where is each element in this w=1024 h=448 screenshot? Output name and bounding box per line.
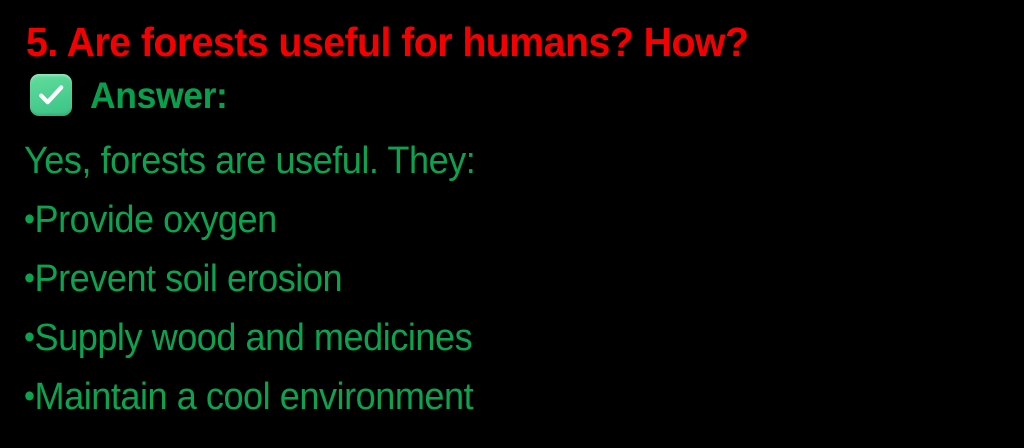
benefit-bullet-list: •Provide oxygen •Prevent soil erosion •S… (24, 190, 984, 426)
answer-slide: 5. Are forests useful for humans? How? A… (0, 0, 1024, 448)
bullet-marker-icon: • (24, 259, 35, 296)
answer-intro-line: Yes, forests are useful. They: (24, 133, 936, 190)
answer-body: Yes, forests are useful. They: •Provide … (24, 133, 984, 426)
list-item: •Supply wood and medicines (24, 308, 936, 367)
bullet-marker-icon: • (24, 377, 35, 414)
list-item: •Prevent soil erosion (24, 249, 936, 308)
bullet-marker-icon: • (24, 318, 35, 355)
list-item-label: Provide oxygen (35, 199, 277, 241)
white-check-mark-icon (30, 74, 72, 116)
list-item-label: Prevent soil erosion (35, 258, 343, 300)
list-item: •Provide oxygen (24, 190, 936, 249)
list-item-label: Maintain a cool environment (35, 376, 474, 418)
list-item: •Maintain a cool environment (24, 367, 936, 426)
answer-label: Answer: (90, 77, 227, 114)
list-item-label: Supply wood and medicines (35, 317, 473, 359)
bullet-marker-icon: • (24, 200, 35, 237)
question-heading: 5. Are forests useful for humans? How? (26, 18, 748, 66)
answer-header: Answer: (30, 74, 233, 116)
